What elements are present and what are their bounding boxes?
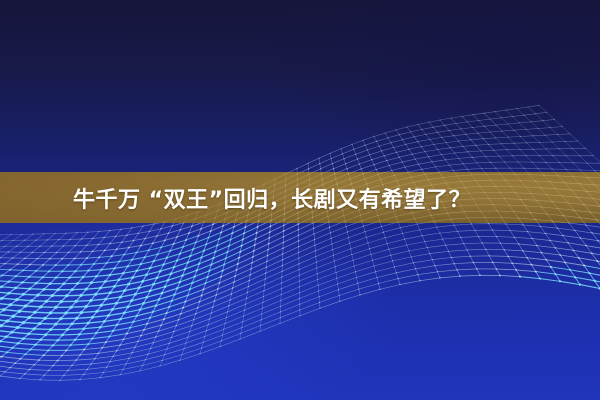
image-canvas: 牛千万 “双王”回归，长剧又有希望了？ [0, 0, 600, 400]
banner-title: 牛千万 “双王”回归，长剧又有希望了？ [73, 172, 471, 223]
title-banner: 牛千万 “双王”回归，长剧又有希望了？ [0, 172, 600, 223]
